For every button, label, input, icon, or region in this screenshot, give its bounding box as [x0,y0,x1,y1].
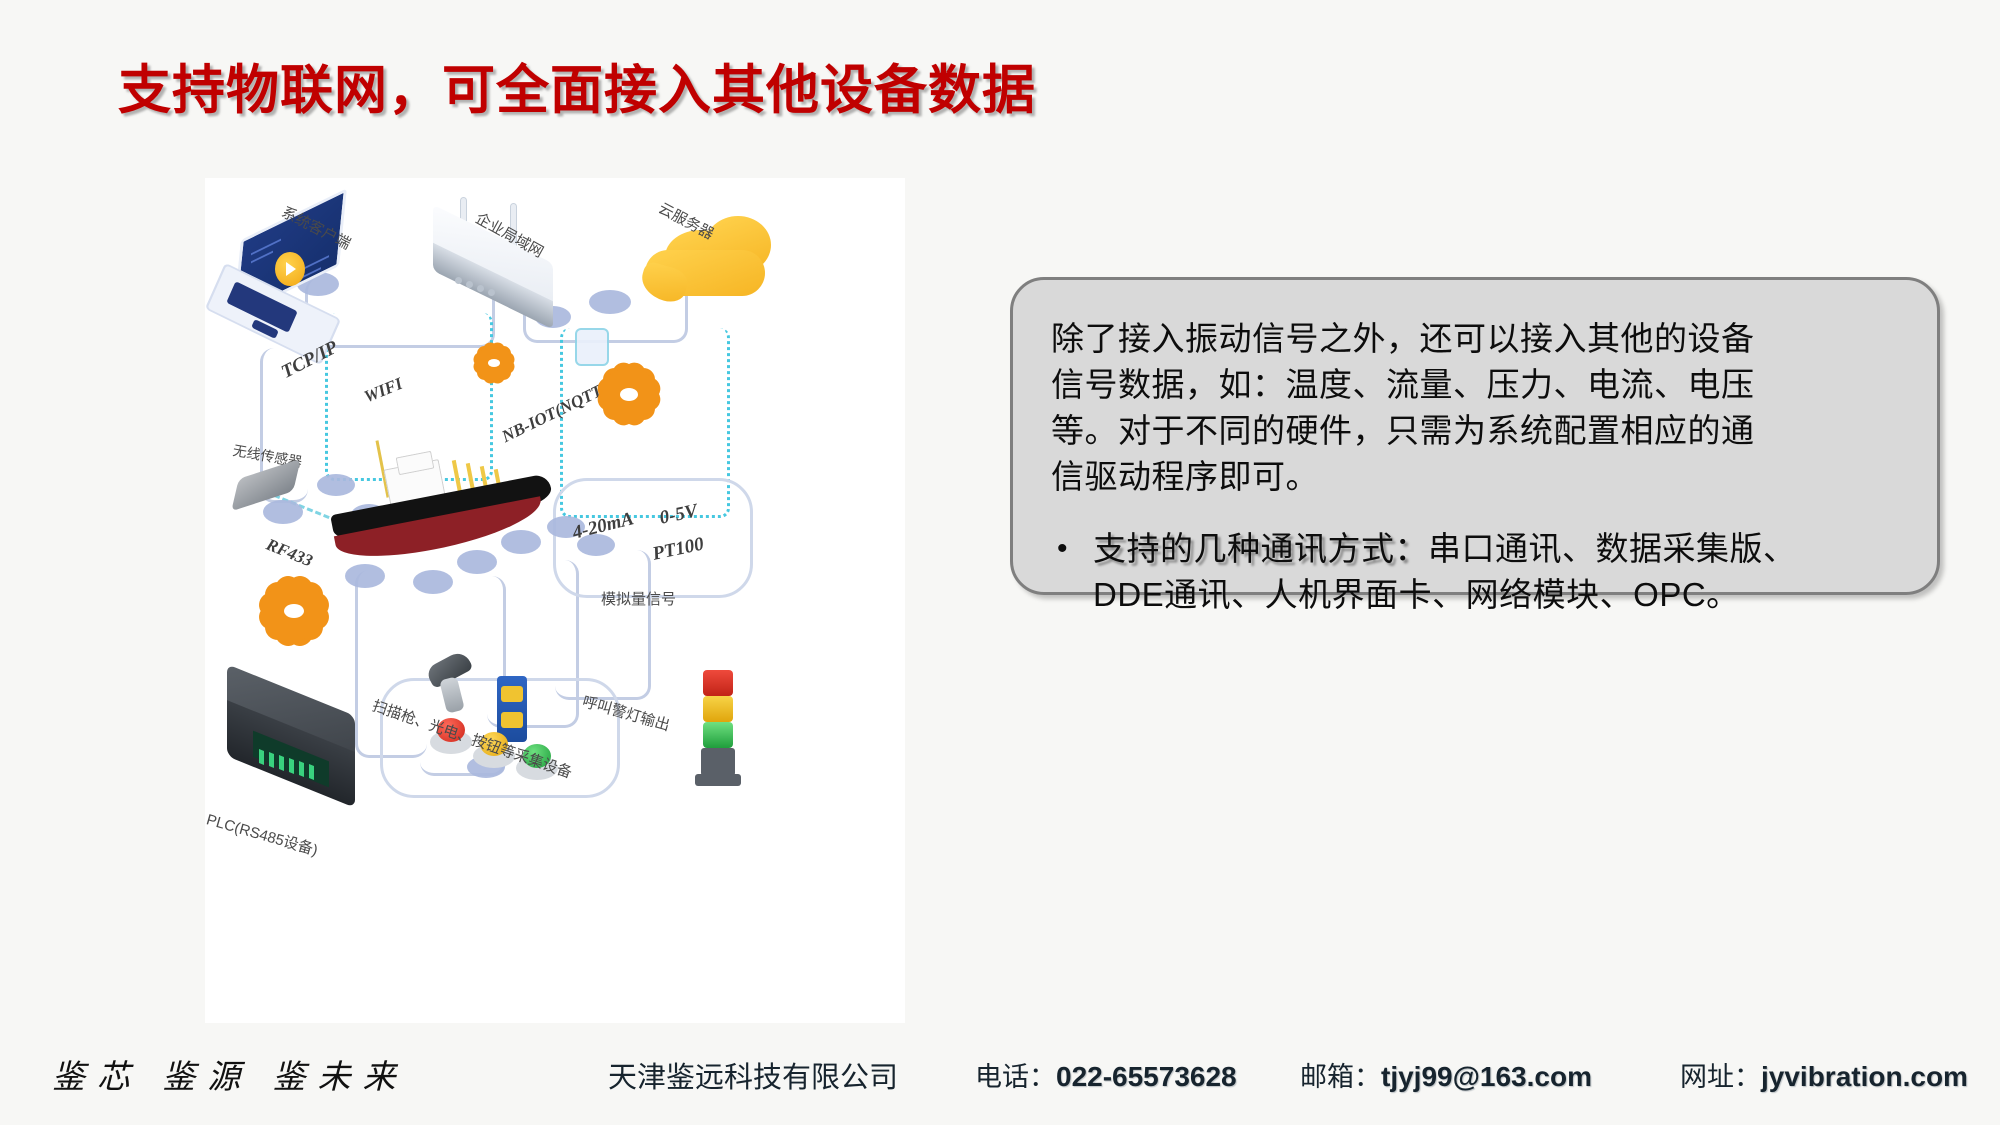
footer-company: 天津鉴远科技有限公司 [608,1054,898,1096]
footer-website: 网址：jyvibration.com [1680,1055,1968,1094]
node-plc [345,564,385,588]
bullet-line-2: DDE通讯、人机界面卡、网络模块、OPC。 [1093,572,1797,618]
info-callout-box: 除了接入振动信号之外，还可以接入其他的设备 信号数据，如：温度、流量、压力、电流… [1010,277,1940,595]
router-port [488,289,495,296]
plc-led [309,764,314,780]
paragraph-line: 信号数据，如：温度、流量、压力、电流、电压 [1051,362,1901,408]
footer-phone: 电话：022-65573628 [975,1055,1237,1094]
label-plc: PLC(RS485设备) [205,808,320,860]
tower-light-yellow [703,696,733,722]
paragraph-line: 除了接入振动信号之外，还可以接入其他的设备 [1051,316,1901,362]
wifi-access-point-icon [577,330,607,364]
router-port [455,277,462,284]
router-port [466,281,473,288]
play-triangle-icon [286,262,296,276]
footer-email-value: tjyj99@163.com [1381,1061,1592,1092]
plc-led [259,749,264,765]
node-wifi-bottom [317,474,355,496]
footer-website-value[interactable]: jyvibration.com [1761,1061,1968,1092]
iot-architecture-diagram: 系统客户端 企业局域网 云服务器 TCP/IP WIFI NB-IOT(NQTT… [205,178,905,1023]
plc-led [269,752,274,768]
gear-hole [620,388,638,401]
paragraph-line: 信驱动程序即可。 [1051,454,1901,500]
photoelectric-lens [501,712,523,728]
tower-light-green [703,722,733,748]
plc-led [289,758,294,774]
node-analog-2 [457,550,497,574]
gear-hole [488,359,500,367]
bullet-item-communication: • 支持的几种通讯方式：串口通讯、数据采集版、 DDE通讯、人机界面卡、网络模块… [1051,526,1901,618]
footer-email: 邮箱：tjyj99@163.com [1300,1055,1592,1094]
router-port [477,285,484,292]
tower-light-foot [695,774,741,786]
footer: 鉴芯 鉴源 鉴未来 天津鉴远科技有限公司 电话：022-65573628 邮箱：… [0,1028,2000,1125]
node-lan-right [589,290,631,314]
plc-led [299,761,304,777]
node-analog-1 [413,570,453,594]
footer-slogan: 鉴芯 鉴源 鉴未来 [52,1050,408,1098]
paragraph-line: 等。对于不同的硬件，只需为系统配置相应的通 [1051,408,1901,454]
label-rf433: RF433 [263,535,315,572]
page-title: 支持物联网，可全面接入其他设备数据 [118,48,1036,124]
bullet-marker: • [1051,526,1093,618]
photoelectric-lens [501,686,523,702]
plc-led [279,755,284,771]
label-analog-signal: 模拟量信号 [601,588,676,609]
node-analog-3 [501,530,541,554]
node-sensorline [263,500,303,524]
tower-light-base [701,748,735,776]
footer-phone-value: 022-65573628 [1056,1061,1237,1092]
footer-website-label: 网址： [1680,1062,1761,1092]
footer-phone-label: 电话： [975,1062,1056,1092]
footer-email-label: 邮箱： [1300,1062,1381,1092]
bullet-line-1: 支持的几种通讯方式：串口通讯、数据采集版、 [1093,526,1797,572]
gear-hole [284,604,304,618]
bullet-emphasis: 支持的几种通讯方式： [1093,530,1428,567]
tower-light-red [703,670,733,696]
slide-root: 支持物联网，可全面接入其他设备数据 [0,0,2000,1125]
bullet-line-1-rest: 串口通讯、数据采集版、 [1428,530,1797,567]
